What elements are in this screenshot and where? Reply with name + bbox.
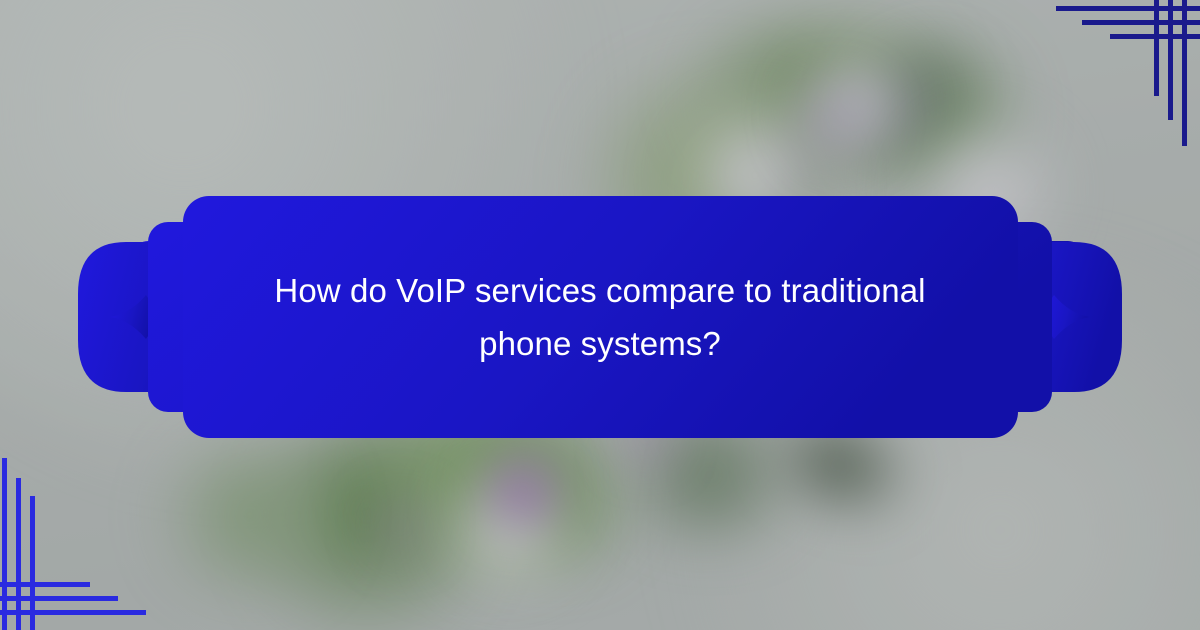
top-right-corner-bracket-line <box>1154 0 1159 96</box>
top-right-corner-bracket-line <box>1168 0 1173 120</box>
poster-canvas: How do VoIP services compare to traditio… <box>0 0 1200 630</box>
bottom-left-corner-bracket-line <box>0 610 146 615</box>
heading-line-2: phone systems? <box>479 317 721 370</box>
bottom-left-corner-bracket-line <box>16 478 21 630</box>
bottom-left-corner-bracket-line <box>30 496 35 630</box>
banner-heading: How do VoIP services compare to traditio… <box>200 196 1000 438</box>
top-right-corner-bracket-line <box>1182 0 1187 146</box>
top-right-corner-bracket-line <box>1056 6 1200 11</box>
heading-line-1: How do VoIP services compare to traditio… <box>274 264 925 317</box>
bottom-left-corner-bracket-line <box>2 458 7 630</box>
bottom-left-corner-bracket-line <box>0 582 90 587</box>
